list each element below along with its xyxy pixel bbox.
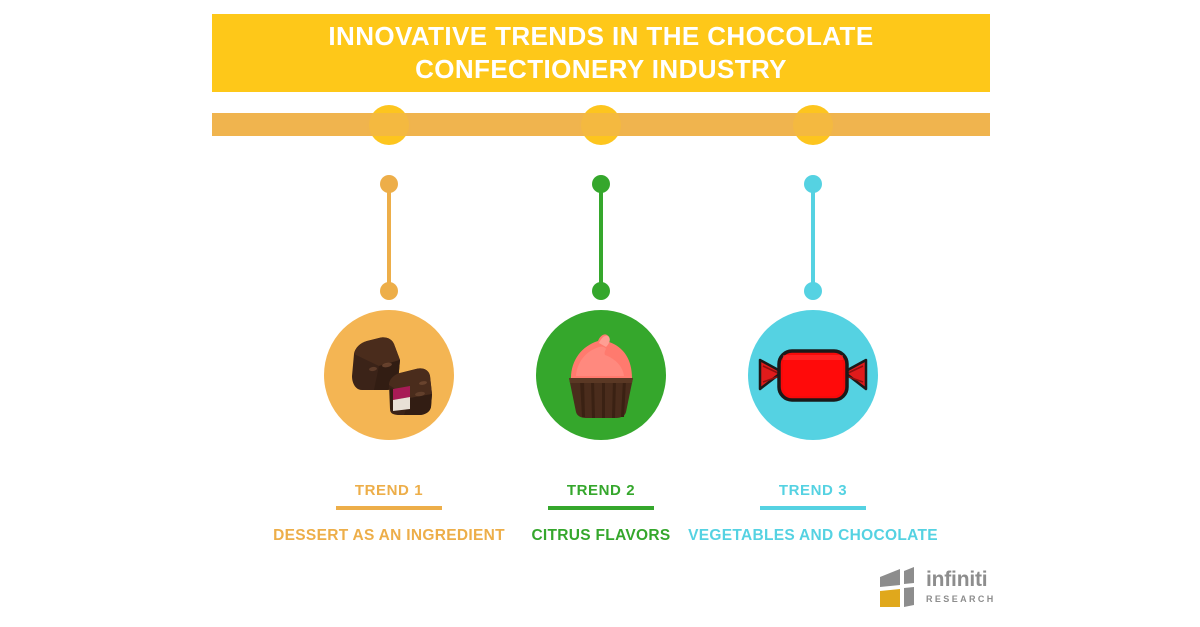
wrapped-candy-icon xyxy=(748,310,878,440)
stem-dot-bottom xyxy=(380,282,398,300)
trend-3-icon-circle xyxy=(748,310,878,440)
timeline-node-bar-overlap xyxy=(367,113,411,136)
cupcake-icon xyxy=(536,310,666,440)
timeline-node-1 xyxy=(369,105,409,145)
trend-1-icon-circle xyxy=(324,310,454,440)
logo-subtitle: RESEARCH xyxy=(926,595,996,604)
infographic-canvas: INNOVATIVE TRENDS IN THE CHOCOLATE CONFE… xyxy=(0,0,1200,627)
stem-dot-bottom xyxy=(804,282,822,300)
title-banner: INNOVATIVE TRENDS IN THE CHOCOLATE CONFE… xyxy=(212,14,990,92)
trend-3-description: VEGETABLES AND CHOCOLATE xyxy=(633,527,993,545)
infiniti-research-logo: infiniti RESEARCH xyxy=(878,565,998,611)
stem-dot-bottom xyxy=(592,282,610,300)
connector-stem-3 xyxy=(804,175,822,300)
logo-name: infiniti xyxy=(926,569,996,590)
stem-line xyxy=(811,183,815,292)
connector-stem-1 xyxy=(380,175,398,300)
page-title: INNOVATIVE TRENDS IN THE CHOCOLATE CONFE… xyxy=(236,20,966,87)
trend-3-rule xyxy=(760,506,866,510)
stem-line xyxy=(599,183,603,292)
stem-line xyxy=(387,183,391,292)
timeline-node-2 xyxy=(581,105,621,145)
trend-2-rule xyxy=(548,506,654,510)
chocolate-pralines-icon xyxy=(324,310,454,440)
trend-2-icon-circle xyxy=(536,310,666,440)
trend-2-title: TREND 2 xyxy=(567,482,635,506)
connector-stem-2 xyxy=(592,175,610,300)
trend-3-label: TREND 3 xyxy=(663,482,963,510)
timeline-node-bar-overlap xyxy=(579,113,623,136)
timeline-node-bar-overlap xyxy=(791,113,835,136)
trend-1-title: TREND 1 xyxy=(355,482,423,506)
infiniti-logo-mark-icon xyxy=(878,567,918,609)
trend-1-rule xyxy=(336,506,442,510)
logo-wordmark: infiniti RESEARCH xyxy=(926,569,996,604)
trend-3-title: TREND 3 xyxy=(779,482,847,506)
timeline-node-3 xyxy=(793,105,833,145)
